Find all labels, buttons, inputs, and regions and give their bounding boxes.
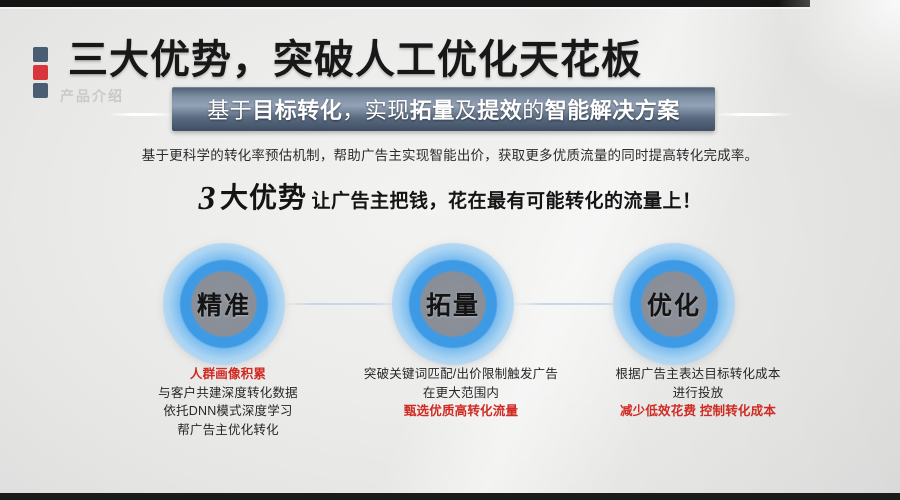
advantage-circle-expansion[interactable]: 拓量	[392, 243, 514, 365]
tagline-number: 3	[199, 180, 216, 217]
advantage-highlight-top: 人群画像积累	[130, 365, 326, 384]
mark-blue-top	[33, 47, 48, 62]
bottom-frame-bar	[0, 493, 900, 500]
top-frame-bar	[0, 0, 810, 7]
banner-segment: 提效	[477, 98, 522, 123]
banner-segment: 及	[455, 98, 478, 123]
advantage-circle-optimization[interactable]: 优化	[613, 243, 735, 365]
banner-segment: 拓量	[410, 98, 455, 123]
advantage-line: 进行投放	[580, 384, 816, 403]
advantage-line: 突破关键词匹配/出价限制触发广告	[348, 365, 574, 384]
page-title: 三大优势，突破人工优化天花板	[68, 27, 642, 85]
banner-segment: 目标转化	[252, 98, 342, 123]
description-text: 基于更科学的转化率预估机制，帮助广告主实现智能出价，获取更多优质流量的同时提高转…	[0, 144, 900, 164]
banner-segment: 的	[522, 98, 545, 123]
advantage-line: 依托DNN模式深度学习	[130, 402, 326, 421]
advantage-circle-label: 精准	[197, 286, 251, 322]
banner-rule-right	[713, 113, 793, 116]
advantage-line: 与客户共建深度转化数据	[130, 384, 326, 403]
advantage-circle-label: 优化	[647, 286, 701, 322]
subtitle-banner: 基于目标转化，实现拓量及提效的智能解决方案	[172, 87, 715, 131]
subtitle-banner-row: 基于目标转化，实现拓量及提效的智能解决方案	[0, 87, 900, 131]
mark-red	[33, 65, 48, 80]
tagline: 3 大优势 让广告主把钱，花在最有可能转化的流量上！	[0, 176, 900, 218]
advantage-circle-precision[interactable]: 精准	[163, 243, 285, 365]
advantage-line: 根据广告主表达目标转化成本	[580, 365, 816, 384]
advantage-line: 帮广告主优化转化	[130, 421, 326, 440]
advantage-column-expansion: 突破关键词匹配/出价限制触发广告在更大范围内甄选优质高转化流量	[348, 365, 574, 421]
advantage-highlight-bottom: 减少低效花费 控制转化成本	[580, 402, 816, 421]
tagline-emphasis: 大优势	[220, 182, 307, 213]
slide-canvas: 产品介绍 三大优势，突破人工优化天花板 基于目标转化，实现拓量及提效的智能解决方…	[0, 0, 900, 500]
advantage-circle-label: 拓量	[426, 286, 480, 322]
top-frame-highlight	[0, 7, 810, 9]
advantage-column-optimization: 根据广告主表达目标转化成本进行投放减少低效花费 控制转化成本	[580, 365, 816, 421]
advantage-highlight-bottom: 甄选优质高转化流量	[348, 402, 574, 421]
tagline-rest: 让广告主把钱，花在最有可能转化的流量上！	[311, 191, 701, 212]
advantage-descriptions: 人群画像积累与客户共建深度转化数据依托DNN模式深度学习帮广告主优化转化 突破关…	[0, 365, 900, 475]
banner-segment: ，实现	[342, 98, 410, 123]
advantage-line: 在更大范围内	[348, 384, 574, 403]
subtitle-banner-text: 基于目标转化，实现拓量及提效的智能解决方案	[207, 93, 680, 125]
advantage-column-precision: 人群画像积累与客户共建深度转化数据依托DNN模式深度学习帮广告主优化转化	[130, 365, 326, 439]
banner-segment: 基于	[207, 98, 252, 123]
banner-segment: 智能解决方案	[545, 98, 680, 123]
banner-rule-left	[108, 113, 174, 116]
circle-connector-1	[282, 303, 402, 305]
advantage-circles: 精准 拓量 优化	[0, 243, 900, 365]
